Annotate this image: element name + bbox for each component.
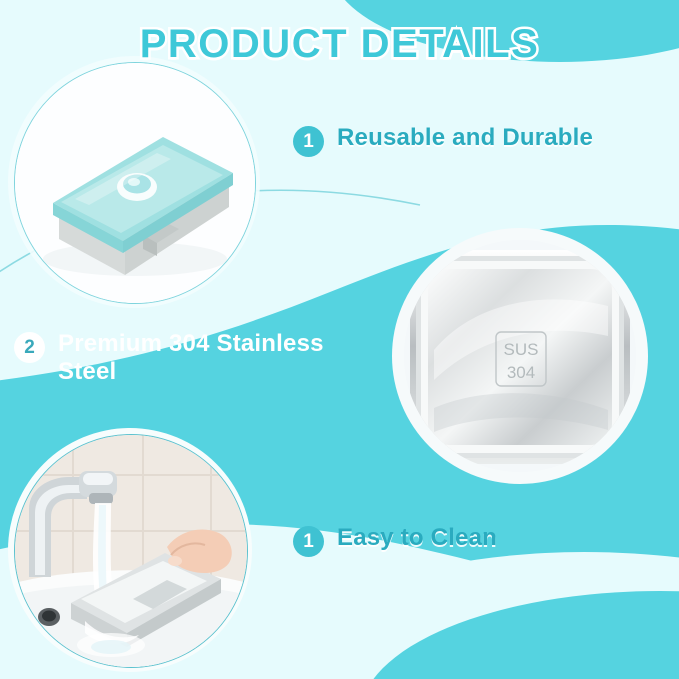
feature-item-3: 1 Easy to Clean <box>293 524 497 557</box>
product-details-infographic: PRODUCT DETAILS <box>0 0 679 679</box>
photo-washing-container-under-faucet <box>14 434 248 668</box>
photo-lunch-box-with-teal-lid <box>14 62 256 304</box>
lunch-box-illustration <box>15 63 255 303</box>
stamp-line-2: 304 <box>507 363 535 382</box>
feature-item-2: 2 Premium 304 Stainless Steel <box>14 330 374 387</box>
steel-container-illustration: SUS 304 <box>404 240 636 472</box>
feature-item-1: 1 Reusable and Durable <box>293 124 593 157</box>
feature-1-label: Reusable and Durable <box>337 124 593 152</box>
stamp-line-1: SUS <box>504 340 539 359</box>
feature-1-badge: 1 <box>293 126 324 157</box>
feature-2-badge: 2 <box>14 332 45 363</box>
feature-3-badge: 1 <box>293 526 324 557</box>
photo-stainless-steel-container-stamp: SUS 304 <box>404 240 636 472</box>
feature-3-label: Easy to Clean <box>337 524 497 552</box>
feature-2-label: Premium 304 Stainless Steel <box>58 330 374 387</box>
washing-illustration <box>15 435 247 667</box>
